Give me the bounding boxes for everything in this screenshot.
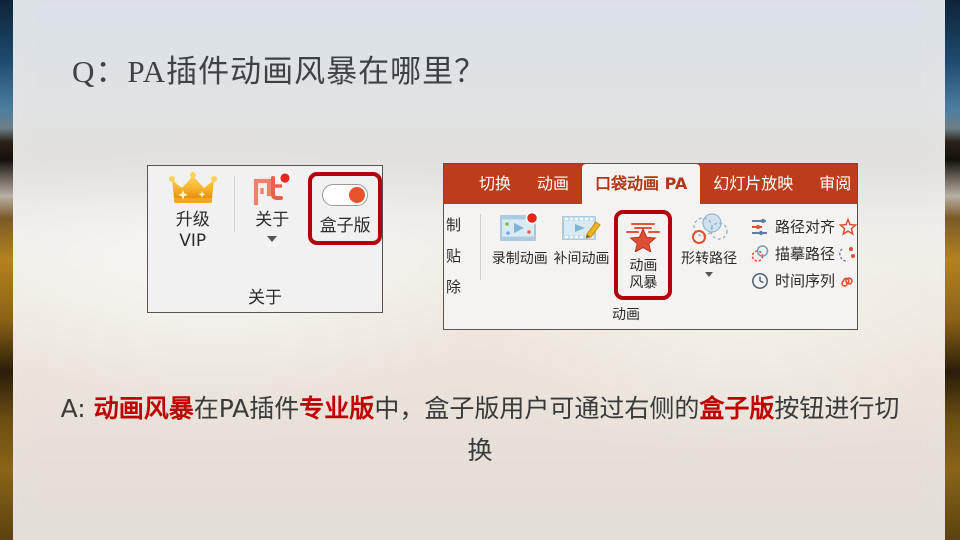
chevron-down-icon[interactable] (705, 272, 713, 277)
about-group-panel: 升级 VIP 关于 (147, 165, 383, 313)
animation-storm-label-line2: 风暴 (629, 275, 657, 292)
toggle-knob (349, 187, 365, 203)
about-group-row: 升级 VIP 关于 (148, 172, 382, 274)
tab-switch[interactable]: 切换 (466, 164, 524, 204)
answer-seg-0: 动画风暴 (94, 394, 194, 423)
upgrade-vip-label-line2: VIP (179, 231, 206, 252)
shape-to-path-button[interactable]: 形转路径 (674, 210, 744, 277)
dots-arc-icon[interactable] (839, 240, 857, 267)
ribbon-separator (480, 214, 481, 280)
tween-animation-button[interactable]: 补间动画 (551, 210, 613, 268)
animation-storm-button[interactable]: 动画 风暴 (614, 210, 672, 300)
clipped-label-paste: 贴 (446, 241, 461, 272)
group-separator (234, 176, 235, 232)
toggle-switch[interactable] (322, 184, 368, 206)
record-animation-icon (499, 210, 541, 248)
trace-path-button[interactable]: 描摹路径 (750, 240, 835, 267)
box-version-label: 盒子版 (320, 216, 371, 237)
time-sequence-label: 时间序列 (775, 270, 835, 291)
tab-animation[interactable]: 动画 (524, 164, 582, 204)
path-align-icon (750, 218, 770, 236)
slide-canvas: Q：PA插件动画风暴在哪里？ (0, 0, 960, 540)
clipped-label-cut: 制 (446, 210, 461, 241)
tab-slideshow[interactable]: 幻灯片放映 (700, 164, 806, 204)
about-icon (251, 172, 293, 208)
crown-icon (169, 172, 217, 206)
animation-group-label: 动画 (612, 304, 640, 324)
answer-seg-3: 中，盒子版用户可通过右侧的 (374, 394, 699, 423)
infinity-icon[interactable] (839, 267, 857, 294)
time-sequence-icon (750, 272, 770, 290)
trace-path-label: 描摹路径 (775, 243, 835, 264)
record-animation-button[interactable]: 录制动画 (489, 210, 551, 268)
shape-to-path-icon (687, 210, 731, 248)
time-sequence-button[interactable]: 时间序列 (750, 267, 835, 294)
shape-to-path-label: 形转路径 (681, 251, 737, 268)
clipped-label-del: 除 (446, 272, 461, 303)
box-version-toggle-button[interactable]: 盒子版 (308, 172, 382, 245)
upgrade-vip-label-line1: 升级 (176, 210, 210, 231)
answer-text: A: 动画风暴在PA插件专业版中，盒子版用户可通过右侧的盒子版按钮进行切换 (60, 388, 900, 472)
clipboard-group-clipped: 制 贴 除 (444, 210, 474, 303)
ribbon-tab-bar: 切换 动画 口袋动画 PA 幻灯片放映 审阅 (444, 164, 857, 204)
ribbon-content: 制 贴 除 (444, 204, 857, 330)
path-align-label: 路径对齐 (775, 216, 835, 237)
answer-seg-4: 盒子版 (699, 394, 774, 423)
tab-review[interactable]: 审阅 (806, 164, 858, 204)
animation-storm-icon (625, 217, 661, 255)
animation-storm-label-line1: 动画 (629, 258, 657, 275)
path-align-button[interactable]: 路径对齐 (750, 213, 835, 240)
tween-animation-icon (561, 210, 603, 248)
answer-seg-2: 专业版 (299, 394, 374, 423)
answer-seg-1: 在PA插件 (194, 394, 300, 423)
background-edge-strip-right (945, 0, 960, 540)
chevron-down-icon[interactable] (267, 236, 277, 242)
answer-prefix: A: (61, 394, 86, 423)
star-icon[interactable] (839, 213, 857, 240)
tab-pocket-animation-pa[interactable]: 口袋动画 PA (582, 164, 700, 204)
clipped-icon-column (839, 210, 857, 294)
animation-tools-list: 路径对齐 描摹路径 (750, 210, 835, 294)
background-edge-strip-left (0, 0, 13, 540)
tween-animation-label: 补间动画 (554, 251, 610, 268)
about-label: 关于 (255, 210, 289, 231)
page-title: Q：PA插件动画风暴在哪里？ (72, 46, 486, 91)
upgrade-vip-button[interactable]: 升级 VIP (156, 172, 229, 252)
about-button[interactable]: 关于 (240, 172, 304, 242)
ribbon-panel: 切换 动画 口袋动画 PA 幻灯片放映 审阅 制 贴 除 (443, 163, 858, 330)
record-animation-label: 录制动画 (492, 251, 548, 268)
about-group-label: 关于 (148, 283, 382, 308)
trace-path-icon (750, 245, 770, 263)
